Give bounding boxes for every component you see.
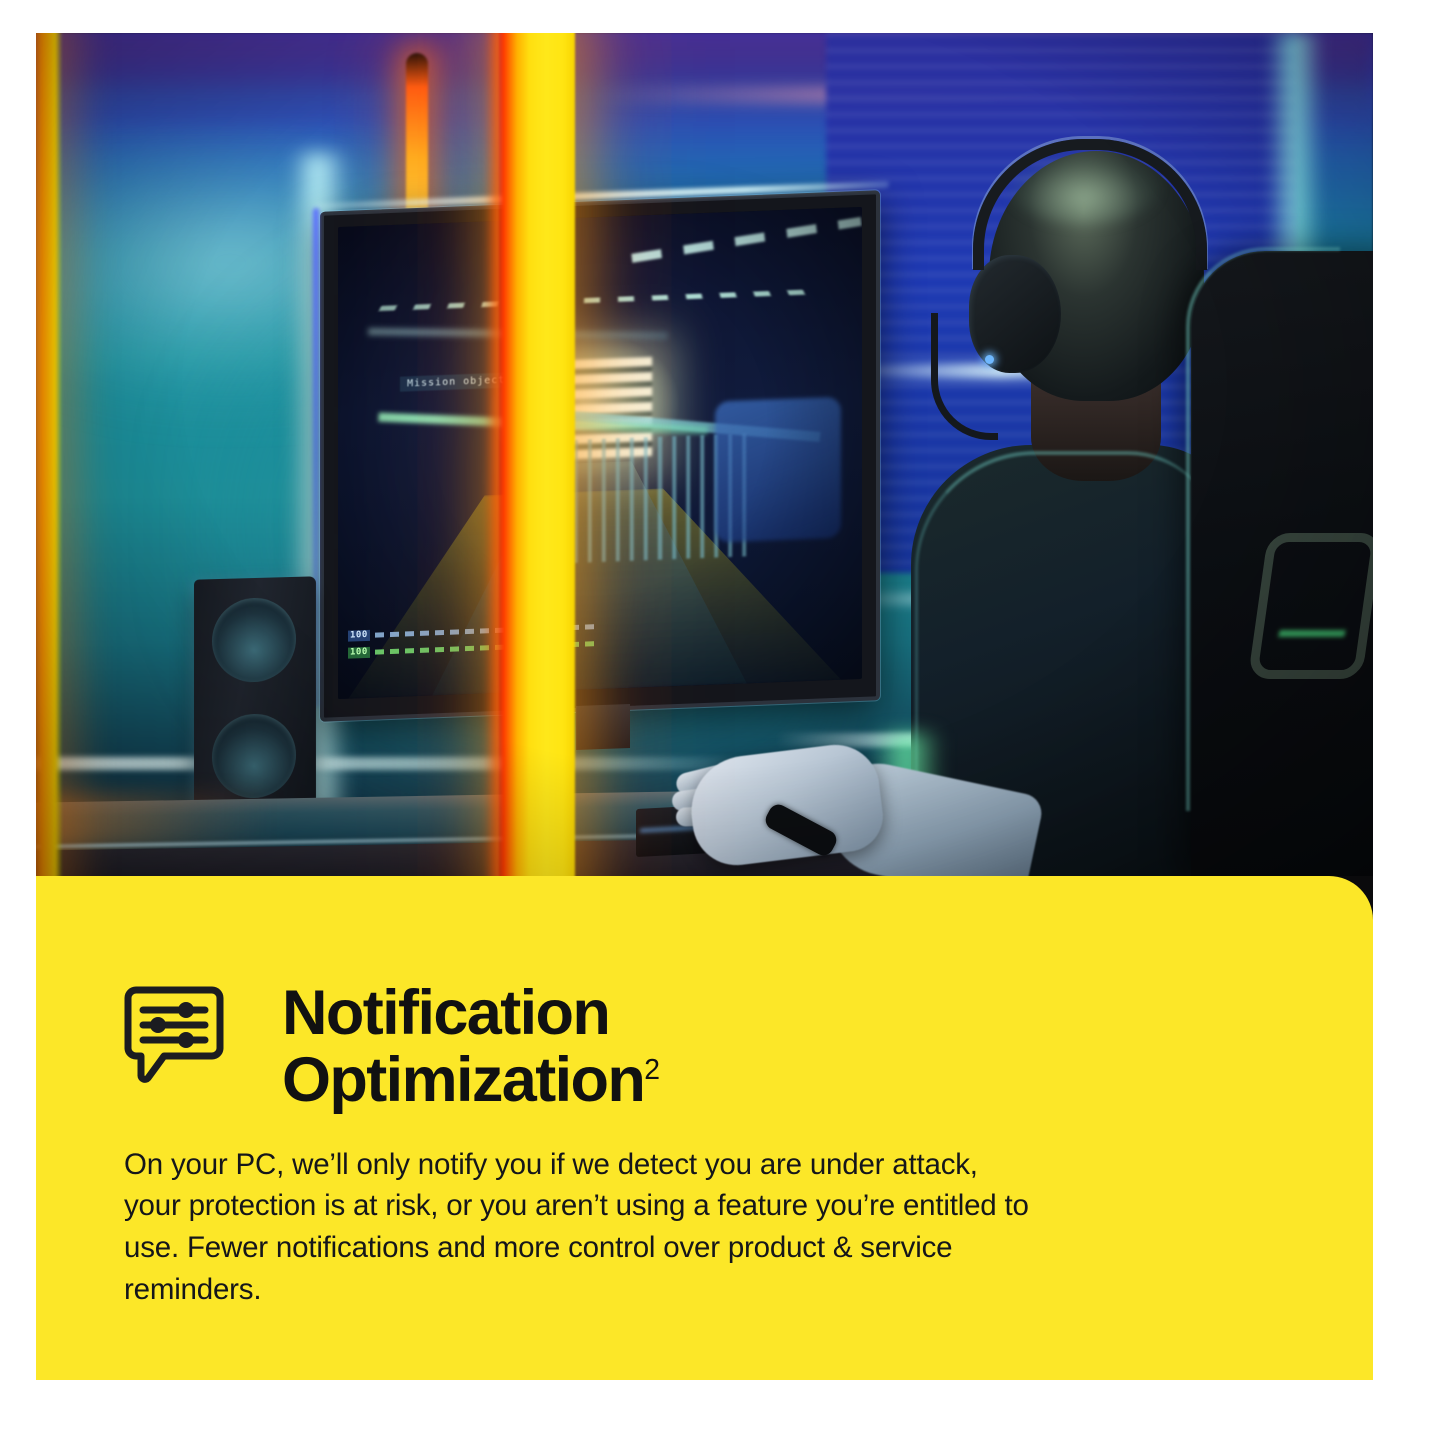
headset-mic-boom xyxy=(931,313,998,440)
speaker-driver-top xyxy=(212,597,296,683)
feature-icon-wrap xyxy=(124,980,224,1090)
hud-value-health: 100 xyxy=(348,647,370,659)
speaker-driver-bottom xyxy=(212,713,296,799)
gaming-monitor: Mission objective 100 100 xyxy=(320,190,880,722)
page-canvas: Mission objective 100 100 xyxy=(0,0,1445,1445)
slider-knob-2 xyxy=(150,1017,166,1033)
headset-headband xyxy=(973,139,1207,270)
monitor-stand xyxy=(576,704,630,750)
monitor-screen: Mission objective 100 100 xyxy=(338,207,862,699)
feature-heading-line-1: Notification xyxy=(282,978,609,1048)
baseboard-light-left xyxy=(36,757,756,770)
feature-heading-line-2: Optimization xyxy=(282,1045,644,1115)
slider-knob-3 xyxy=(178,1032,194,1048)
feature-panel-content: Notification Optimization2 On your PC, w… xyxy=(124,980,1263,1311)
hud-value-shield: 100 xyxy=(348,630,370,642)
feature-panel: Notification Optimization2 On your PC, w… xyxy=(36,876,1373,1380)
gaming-chair-rimlight xyxy=(1186,247,1340,811)
bubble-outline xyxy=(128,990,220,1079)
gaming-chair-logo-accent xyxy=(1278,630,1345,637)
notification-sliders-bubble-icon xyxy=(124,986,224,1090)
neon-column-left xyxy=(36,33,62,876)
slider-knob-1 xyxy=(178,1002,194,1018)
feature-card: Mission objective 100 100 xyxy=(36,33,1373,1380)
feature-heading-row: Notification Optimization2 xyxy=(124,980,1263,1114)
screen-vignette xyxy=(338,207,862,699)
headset-led-icon xyxy=(985,355,994,364)
feature-heading-superscript: 2 xyxy=(644,1054,660,1086)
gamer-shoulder-rimlight xyxy=(915,451,1218,775)
hero-photo: Mission objective 100 100 xyxy=(36,33,1373,876)
feature-heading: Notification Optimization2 xyxy=(282,980,660,1114)
gaming-chair-logo-icon xyxy=(1248,533,1373,679)
neon-column-main xyxy=(499,33,575,876)
feature-body-text: On your PC, we’ll only notify you if we … xyxy=(124,1144,1029,1312)
